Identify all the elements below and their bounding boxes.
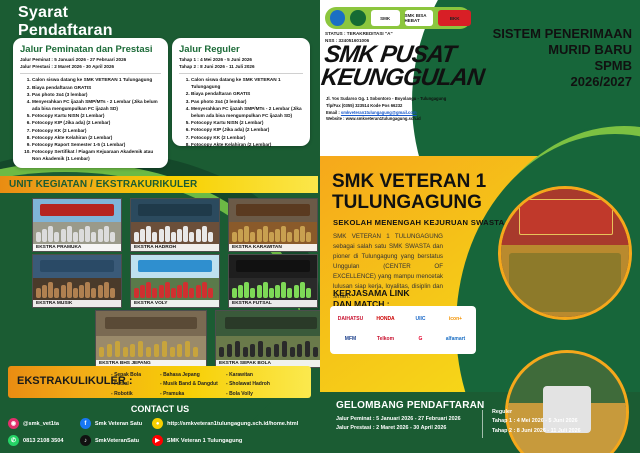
photo-caption: EKSTRA FUTSAL <box>229 300 317 307</box>
extracurricular-photo: EKSTRA VOLY <box>130 254 220 308</box>
wordmark-line2: KEUNGGULAN <box>320 67 485 90</box>
ekskul-item: Pramuka <box>160 390 218 399</box>
card-peminatan-heading: Jalur Peminatan dan Prestasi <box>20 44 168 55</box>
gel-tahap1: Tahap 1 : 4 Mei 2026 - 5 Juni 2026 <box>492 417 581 426</box>
contact-text: SMK Veteran 1 Tulungagung <box>167 438 242 444</box>
requirement-item: Fotocopy Kartu NISN (2 Lembar) <box>191 120 304 127</box>
address-web-row: Website : www.smkveteran1tulungagung.sch… <box>326 116 446 123</box>
ekskul-item: Futsal <box>111 380 141 389</box>
contact-list: ◉ @smk_vet1taf Smk Veteran Satu● http://… <box>8 418 313 452</box>
accreditation-status: STATUS : TERAKREDITASI "A" <box>325 31 393 38</box>
left-panel: Syarat Pendaftaran Jalur Peminatan dan P… <box>0 0 320 453</box>
card-jalur-peminatan: Jalur Peminatan dan Prestasi Jalur Pemin… <box>13 38 168 168</box>
right-panel: SMKSMK BISA HEBATBKK STATUS : TERAKREDIT… <box>320 0 640 453</box>
vertical-divider <box>482 410 483 438</box>
card-jalur-reguler: Jalur Reguler Tahap 1 : 4 Mei 2026 - 5 J… <box>172 38 310 146</box>
instagram-icon[interactable]: ◉ <box>8 418 19 429</box>
requirement-item: Fotocopy Akte Kelahiran (2 Lembar) <box>191 142 304 149</box>
mfm-logo: MFM <box>335 331 366 349</box>
contact-item[interactable]: f Smk Veteran Satu <box>80 418 142 429</box>
school-subtitle: SEKOLAH MENENGAH KEJURUAN SWASTA <box>333 218 504 227</box>
smk-pusat-keunggulan-wordmark: SMK PUSAT KEUNGGULAN <box>320 44 488 89</box>
requirement-item: Fotocopy Raport Semester 1-5 (1 Lembar) <box>32 142 162 149</box>
photo-caption: EKSTRA KARAWITAN <box>229 244 317 251</box>
photo-caption: EKSTRA PRAMUKA <box>33 244 121 251</box>
requirement-item: Fotocopy Akte Kelahiran (2 Lembar) <box>32 135 162 142</box>
page-title-line2: Pendaftaran <box>18 22 113 40</box>
alfamart-logo: alfamart <box>440 331 471 349</box>
ekstrakulikuler-bar: EKSTRAKULIKULER : Sepak BolaFutsalRoboti… <box>8 366 311 398</box>
page-title-line1: Syarat <box>18 4 113 22</box>
students-photo <box>505 350 629 453</box>
smk-hebat-logo: SMK BISA HEBAT <box>405 10 434 26</box>
icon-plus-logo: icon+ <box>440 311 471 329</box>
spmb-line1: SISTEM PENERIMAAN <box>493 26 632 42</box>
ekskul-column-3: KarawitanSholawat HadrohBola Volly <box>226 371 270 399</box>
school-name: SMK VETERAN 1 TULUNGAGUNG <box>332 172 486 213</box>
telkom-logo: Telkom <box>370 331 401 349</box>
card-peminatan-sub1: Jalur Peminat : 5 Januari 2026 - 27 Febr… <box>20 57 168 64</box>
requirement-item: Pas photo 3x4 (3 lembar) <box>32 92 162 99</box>
uiic-logo: UIIC <box>405 311 436 329</box>
kemdikbud-logo <box>330 10 345 26</box>
spmb-line2: MURID BARU <box>493 42 632 58</box>
daihatsu-logo: DAIHATSU <box>335 311 366 329</box>
photo-caption: EKSTRA VOLY <box>131 300 219 307</box>
school-address-block: Jl. Yos Sudarso Gg. 1 Sobontoro - Boyola… <box>326 96 446 123</box>
ekskul-item: Karawitan <box>226 371 270 380</box>
ekskul-item: Sholawat Hadroh <box>226 380 270 389</box>
extracurricular-photo: EKSTRA SEPAK BOLA <box>215 310 320 368</box>
contact-item[interactable]: ✆ 0813 2108 3504 <box>8 435 70 446</box>
email-link[interactable]: smkveteran1tulungagung@gmail.com <box>341 110 417 115</box>
contact-text: Smk Veteran Satu <box>95 421 142 427</box>
website-link[interactable]: www.smkveteran1tulungagung.sch.id <box>346 116 421 121</box>
ekskul-item: Sepak Bola <box>111 371 141 380</box>
school-name-line2: TULUNGAGUNG <box>332 193 486 214</box>
spmb-line3: SPMB <box>493 58 632 74</box>
requirement-item: Biaya pendaftaran GRATIS <box>32 85 162 92</box>
card-reguler-list: Calon siswa datang ke SMK VETERAN 1 Tulu… <box>172 77 310 148</box>
contact-item[interactable]: ▶ SMK Veteran 1 Tulungagung <box>152 435 303 446</box>
ekskul-item: Musik Band & Dangdut <box>160 380 218 389</box>
requirement-item: Calon siswa datang ke SMK VETERAN 1 Tulu… <box>32 77 162 84</box>
institution-logo-strip: SMKSMK BISA HEBATBKK <box>325 7 471 29</box>
requirement-item: Fotocopy Sertifikat / Piagam Kejuaraan A… <box>32 149 162 163</box>
ekskul-column-1: Sepak BolaFutsalRobotik <box>111 371 141 399</box>
extracurricular-photo: EKSTRA KARAWITAN <box>228 198 318 252</box>
kerjasama-line1: KERJASAMA LINK <box>333 288 410 299</box>
extracurricular-photo: EKSTRA MUSIK <box>32 254 122 308</box>
poster-root: Syarat Pendaftaran Jalur Peminatan dan P… <box>0 0 640 453</box>
requirement-item: Menyerahkan FC ijazah SMP/MTs - 2 Lembar… <box>191 106 304 120</box>
contact-us-title: CONTACT US <box>0 404 320 414</box>
requirement-item: Fotocopy KIP (Jika ada) (2 Lembar) <box>191 127 304 134</box>
whatsapp-icon[interactable]: ✆ <box>8 435 19 446</box>
requirement-item: Fotocopy Kartu NISN (2 Lembar) <box>32 113 162 120</box>
card-peminatan-sub2: Jalur Prestasi : 2 Maret 2026 - 30 April… <box>20 64 168 71</box>
gel-peminat: Jalur Peminat : 5 Januari 2026 - 27 Febr… <box>336 415 461 424</box>
partner-logo-card: DAIHATSUHONDAUIICicon+MFMTelkomGalfamart <box>330 306 476 354</box>
lab-fiber-optik-photo <box>498 186 632 320</box>
divider <box>179 73 303 74</box>
bkk-logo: BKK <box>438 10 471 26</box>
gel-prestasi: Jalur Prestasi : 2 Maret 2026 - 30 April… <box>336 424 461 433</box>
photo-caption: EKSTRA MUSIK <box>33 300 121 307</box>
card-peminatan-list: Calon siswa datang ke SMK VETERAN 1 Tulu… <box>13 77 168 163</box>
address-email-row: Email : smkveteran1tulungagung@gmail.com <box>326 110 446 117</box>
tutwuri-logo <box>350 10 365 26</box>
spmb-heading: SISTEM PENERIMAAN MURID BARU SPMB 2026/2… <box>493 26 632 89</box>
photo-caption: EKSTRA HADROH <box>131 244 219 251</box>
card-reguler-heading: Jalur Reguler <box>179 44 310 55</box>
card-reguler-sub2: Tahap 2 : 8 Juni 2026 - 11 Juli 2026 <box>179 64 310 71</box>
contact-text: @smk_vet1ta <box>23 421 59 427</box>
extracurricular-photo: EKSTRA FUTSAL <box>228 254 318 308</box>
extracurricular-photo: EKSTRA PRAMUKA <box>32 198 122 252</box>
spmb-year: 2026/2027 <box>493 74 632 90</box>
ekskul-item: Bola Volly <box>226 390 270 399</box>
contact-item[interactable]: ● http://smkveteran1tulungagung.sch.id/h… <box>152 418 303 429</box>
website-label: Website : <box>326 116 346 121</box>
ekskul-item: Robotik <box>111 390 141 399</box>
school-name-line1: SMK VETERAN 1 <box>332 172 486 193</box>
contact-row: ◉ @smk_vet1taf Smk Veteran Satu● http://… <box>8 418 313 429</box>
requirement-item: Fotocopy KK (2 Lembar) <box>32 128 162 135</box>
gelombang-left-dates: Jalur Peminat : 5 Januari 2026 - 27 Febr… <box>336 415 461 434</box>
divider <box>20 73 161 74</box>
requirement-item: Calon siswa datang ke SMK VETERAN 1 Tulu… <box>191 77 304 91</box>
youtube-icon[interactable]: ▶ <box>152 435 163 446</box>
contact-text: 0813 2108 3504 <box>23 438 63 444</box>
ekskul-item: Bahasa Jepang <box>160 371 218 380</box>
extracurricular-photo: EKSTRA HADROH <box>130 198 220 252</box>
gelombang-title: GELOMBANG PENDAFTARAN <box>336 400 484 411</box>
contact-row: ✆ 0813 2108 3504♪ SmkVeteranSatu▶ SMK Ve… <box>8 435 313 446</box>
honda-logo: HONDA <box>370 311 401 329</box>
requirement-item: Menyerahkan FC ijazah SMP/MTs - 2 Lembar… <box>32 99 162 113</box>
smk-bisa-logo: SMK <box>371 10 400 26</box>
gelombang-right-dates: Reguler Tahap 1 : 4 Mei 2026 - 5 Juni 20… <box>492 408 581 436</box>
contact-text: SmkVeteranSatu <box>95 438 139 444</box>
ekskul-column-2: Bahasa JepangMusik Band & DangdutPramuka <box>160 371 218 399</box>
contact-text: http://smkveteran1tulungagung.sch.id/hom… <box>167 421 298 427</box>
unit-kegiatan-label: UNIT KEGIATAN / EKSTRAKURIKULER <box>9 176 318 193</box>
gomaster-logo: G <box>405 331 436 349</box>
requirement-item: Fotocopy KK (2 Lembar) <box>191 135 304 142</box>
contact-item[interactable]: ♪ SmkVeteranSatu <box>80 435 142 446</box>
facebook-icon[interactable]: f <box>80 418 91 429</box>
unit-kegiatan-banner: UNIT KEGIATAN / EKSTRAKURIKULER <box>0 176 318 193</box>
gel-reguler-head: Reguler <box>492 408 581 417</box>
address-street: Jl. Yos Sudarso Gg. 1 Sobontoro - Boyola… <box>326 96 446 103</box>
requirement-item: Biaya pendaftaran GRATIS <box>191 91 304 98</box>
contact-item[interactable]: ◉ @smk_vet1ta <box>8 418 70 429</box>
card-reguler-sub1: Tahap 1 : 4 Mei 2026 - 5 Juni 2026 <box>179 57 310 64</box>
gel-tahap2: Tahap 2 : 8 Juni 2026 - 11 Juli 2026 <box>492 427 581 436</box>
page-title: Syarat Pendaftaran <box>18 4 113 40</box>
extracurricular-photo: EKSTRA BHS JEPANG <box>95 310 207 368</box>
requirement-item: Pas photo 3x4 (3 lembar) <box>191 99 304 106</box>
requirement-item: Fotocopy KIP (Jika ada) (2 Lembar) <box>32 120 162 127</box>
email-label: Email : <box>326 110 341 115</box>
address-phone: Tlp/Fax (0355) 323514 Kode Pos 66232 <box>326 103 446 110</box>
web-icon[interactable]: ● <box>152 418 163 429</box>
tiktok-icon[interactable]: ♪ <box>80 435 91 446</box>
